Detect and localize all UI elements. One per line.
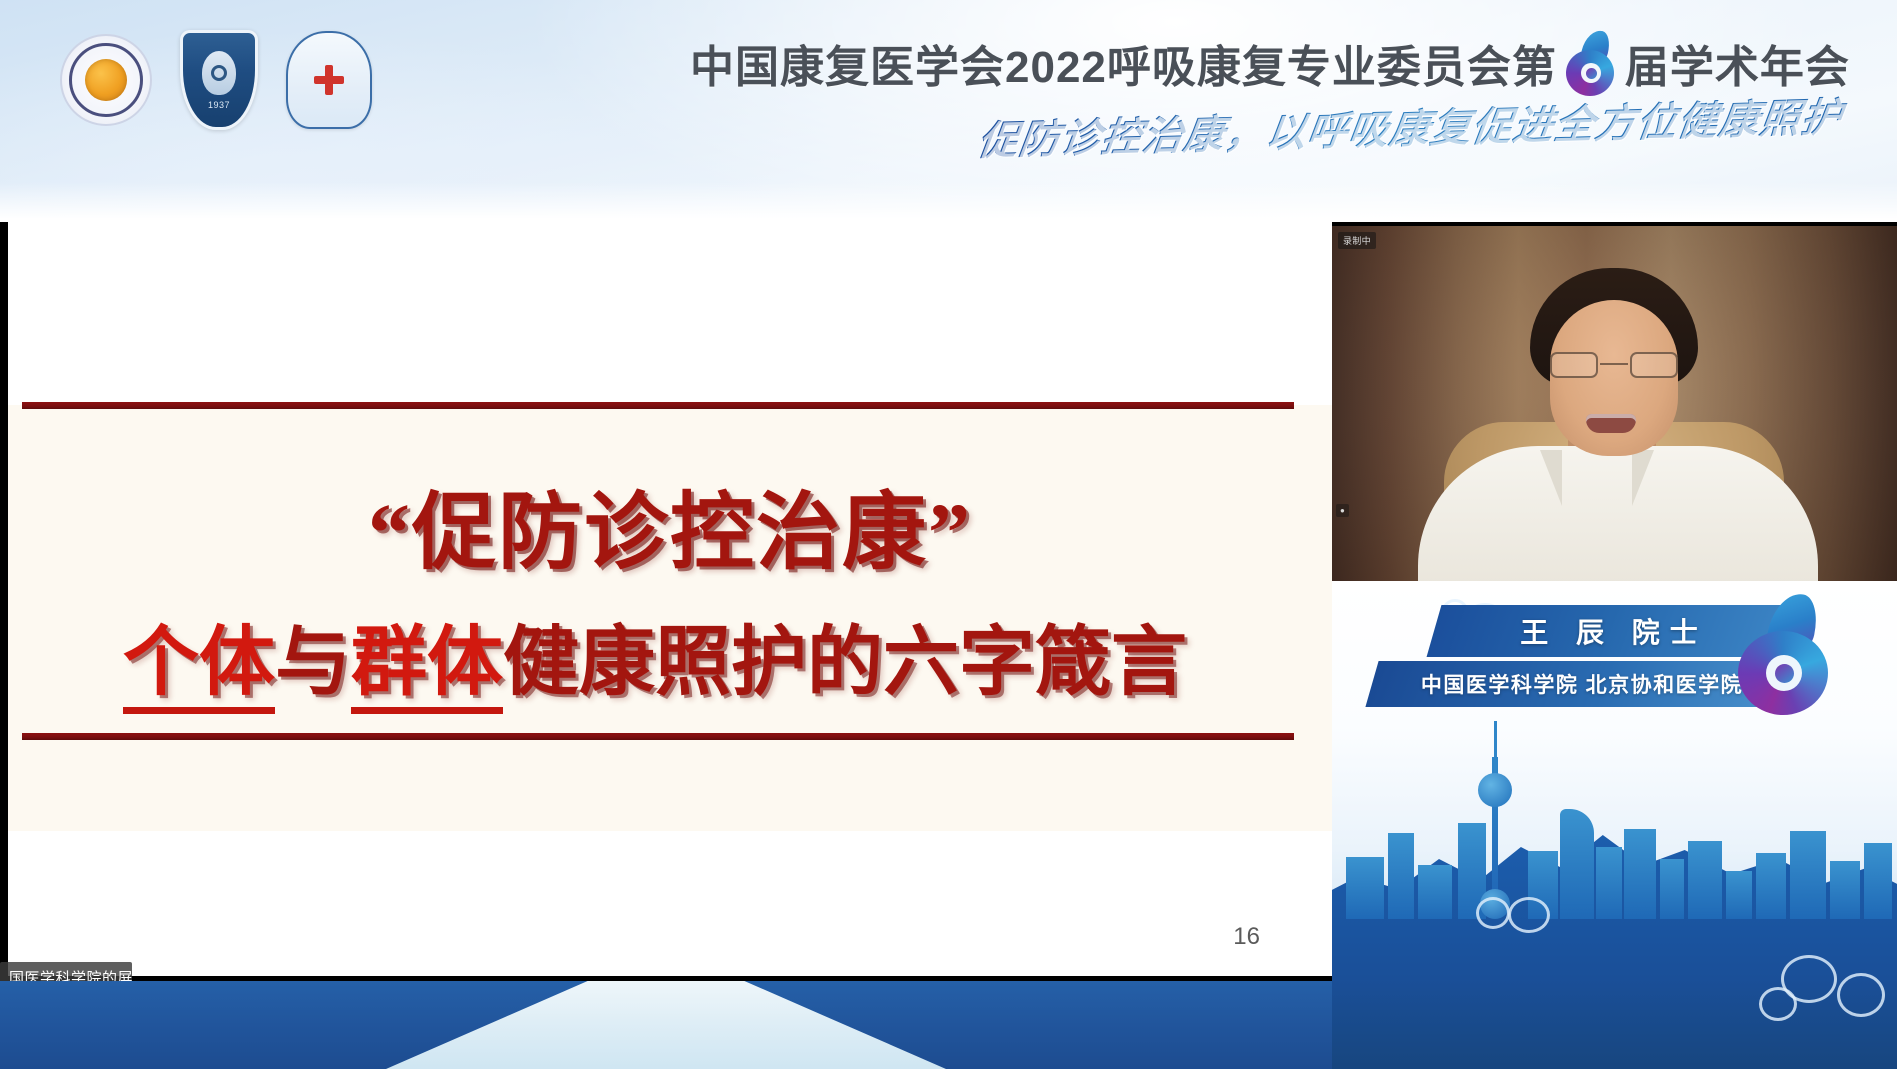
crs-logo-core [85,59,127,101]
crs-logo-ring [69,43,143,117]
university-shield-logo: 1937 [180,30,258,130]
shield-emblem-icon [202,51,236,95]
organizer-logos: 1937 [60,30,372,130]
slide-subtitle-group: 群体 [351,620,503,714]
oriental-pearl-tower-upper-sphere [1478,773,1512,807]
skyline-building [1756,853,1786,919]
video-status-icon: ● [1336,504,1349,517]
meeting-screen-share-view: 1937 中国康复医学会2022呼吸康复专业委员会第 届学术年会 促防诊控治康，… [0,0,1897,1069]
slide-page-number: 16 [1233,923,1260,951]
slide-title-open-quote: “ [368,487,412,580]
skyline-building [1660,859,1684,919]
skyline-building [1864,843,1892,919]
speaker-affiliation: 中国医学科学院 北京协和医学院 [1372,661,1792,707]
skyline-building [1790,831,1826,919]
skyline-building [1418,865,1452,919]
slide-rule-top [22,402,1294,409]
slide-title-close-quote: ” [928,487,972,580]
auspicious-cloud-icon [1759,987,1797,1021]
slide-title-line-1: “促防诊控治康” [8,465,1332,586]
slide-subtitle-individual: 个体 [123,620,275,714]
auspicious-cloud-icon [1508,897,1550,933]
skyline-building [1624,829,1656,919]
eyeglasses-icon [1548,352,1680,378]
oriental-pearl-tower-needle [1494,721,1497,777]
slide-rule-bottom [22,733,1294,740]
skyline-building [1688,841,1722,919]
presentation-slide[interactable]: “促防诊控治康” 个体与群体健康照护的六字箴言 16 [8,222,1332,976]
video-mouth [1586,414,1636,433]
speaker-video-tile[interactable]: 录制中 ● [1332,226,1897,581]
speaker-info-panel: 王 辰 院士 中国医学科学院 北京协和医学院 [1332,581,1897,1069]
video-speaker-head [1530,268,1698,464]
skyline-building [1560,809,1594,919]
medical-cross-icon [314,65,344,95]
slide-title-line-2: 个体与群体健康照护的六字箴言 [8,600,1302,710]
conference-banner: 1937 中国康复医学会2022呼吸康复专业委员会第 届学术年会 促防诊控治康，… [0,0,1897,222]
footer-road-graphic [386,981,946,1069]
speaker-name-card: 王 辰 院士 中国医学科学院 北京协和医学院 [1372,605,1842,717]
auspicious-cloud-icon [1837,973,1885,1017]
video-shirt [1418,446,1818,581]
conference-swirl-logo-icon [1563,30,1619,96]
video-recording-indicator: 录制中 [1338,232,1376,249]
conference-title-before: 中国康复医学会2022呼吸康复专业委员会第 [690,31,1557,95]
skyline-building [1388,833,1414,919]
slide-subtitle-rest: 健康照护的六字箴言 [503,620,1187,705]
skyline-building [1726,871,1752,919]
china-japan-friendship-hospital-logo [286,31,372,129]
conference-title: 中国康复医学会2022呼吸康复专业委员会第 届学术年会 [690,30,1870,96]
shared-screen-stage[interactable]: “促防诊控治康” 个体与群体健康照护的六字箴言 16 国医学科学院的屏幕共享 [0,222,1332,981]
skyline-building [1346,857,1384,919]
auspicious-cloud-icon [1476,897,1510,929]
shield-emblem-inner [211,65,227,81]
slide-title-text: 促防诊控治康 [412,485,928,579]
china-rehabilitation-medicine-association-logo [60,34,152,126]
shield-logo-year: 1937 [208,100,230,110]
conference-swirl-logo-icon [1732,593,1836,717]
slide-subtitle-conj: 与 [275,620,351,705]
city-skyline-silhouette [1332,769,1897,1069]
skyline-building [1830,861,1860,919]
slide-footer-strip [0,981,1332,1069]
skyline-building [1596,847,1622,919]
